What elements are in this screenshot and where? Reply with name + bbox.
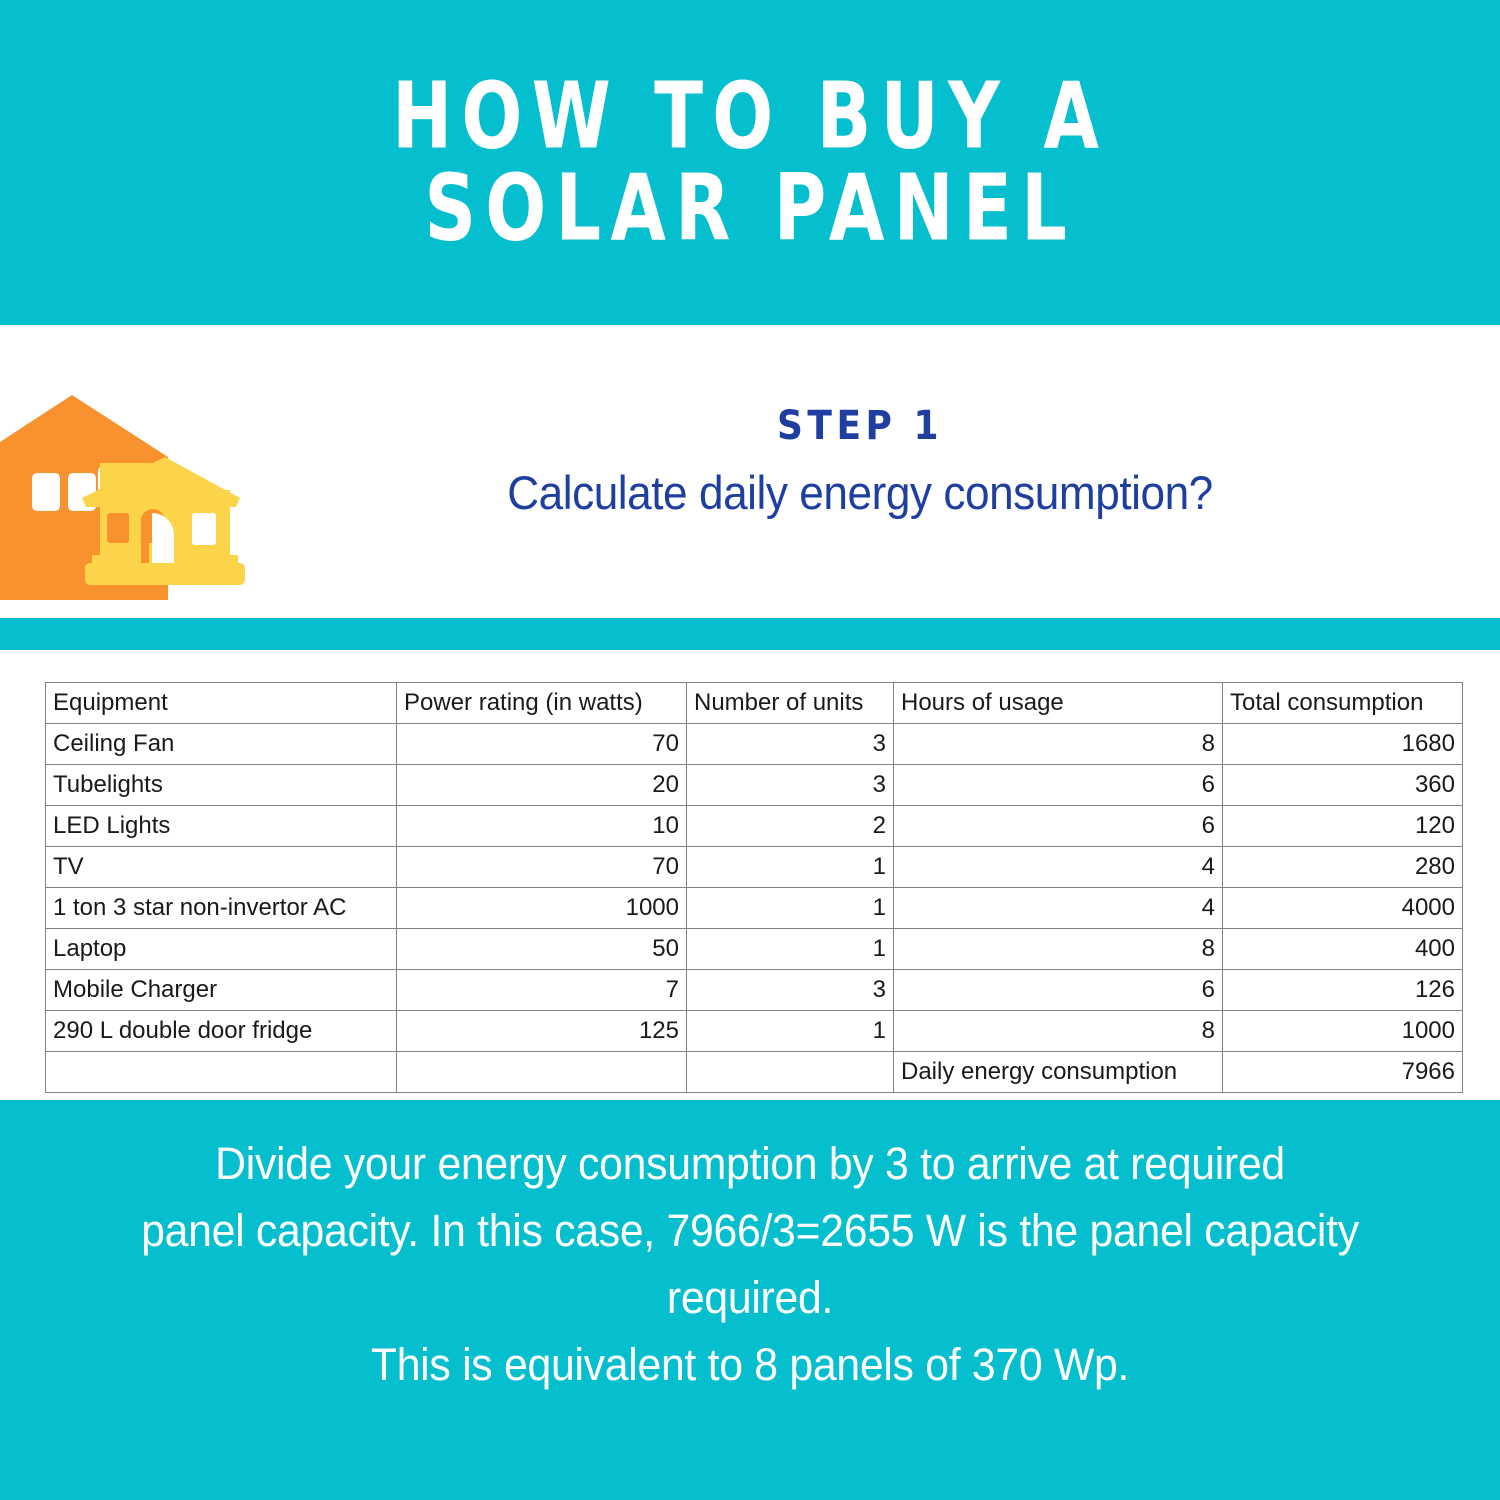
energy-consumption-table: Equipment Power rating (in watts) Number…: [45, 682, 1463, 1093]
cell-power: 50: [397, 929, 687, 970]
cell-units: 1: [687, 888, 894, 929]
column-header-equipment: Equipment: [46, 683, 397, 724]
cell-units: 3: [687, 765, 894, 806]
cell-total: 360: [1223, 765, 1463, 806]
cell-power: 7: [397, 970, 687, 1011]
footer-text-block: Divide your energy consumption by 3 to a…: [137, 1130, 1363, 1398]
cell-hours: 4: [894, 888, 1223, 929]
table-row: TV 70 1 4 280: [46, 847, 1463, 888]
cell-equipment: Laptop: [46, 929, 397, 970]
cell-units: 3: [687, 970, 894, 1011]
cell-equipment: LED Lights: [46, 806, 397, 847]
cell-empty-power: [397, 1052, 687, 1093]
cell-equipment: TV: [46, 847, 397, 888]
table-row: Laptop 50 1 8 400: [46, 929, 1463, 970]
cell-total: 4000: [1223, 888, 1463, 929]
column-header-total-consumption: Total consumption: [1223, 683, 1463, 724]
cell-total: 280: [1223, 847, 1463, 888]
step-text-block: STEP 1 Calculate daily energy consumptio…: [400, 403, 1320, 520]
cell-total: 120: [1223, 806, 1463, 847]
table-row: 1 ton 3 star non-invertor AC 1000 1 4 40…: [46, 888, 1463, 929]
cell-power: 10: [397, 806, 687, 847]
page-title-line-2: SOLAR PANEL: [424, 154, 1076, 263]
cell-equipment: 1 ton 3 star non-invertor AC: [46, 888, 397, 929]
cell-total: 400: [1223, 929, 1463, 970]
column-header-number-of-units: Number of units: [687, 683, 894, 724]
cell-empty-units: [687, 1052, 894, 1093]
cell-power: 70: [397, 847, 687, 888]
cell-equipment: Ceiling Fan: [46, 724, 397, 765]
footer-line-1: Divide your energy consumption by 3 to a…: [137, 1130, 1363, 1197]
cell-empty-equipment: [46, 1052, 397, 1093]
table-row: LED Lights 10 2 6 120: [46, 806, 1463, 847]
step-label: STEP 1: [446, 403, 1274, 449]
footer-line-4: This is equivalent to 8 panels of 370 Wp…: [137, 1331, 1363, 1398]
cell-total: 1000: [1223, 1011, 1463, 1052]
table-header-row: Equipment Power rating (in watts) Number…: [46, 683, 1463, 724]
cell-hours: 6: [894, 970, 1223, 1011]
cell-power: 1000: [397, 888, 687, 929]
cell-units: 2: [687, 806, 894, 847]
cell-total: 126: [1223, 970, 1463, 1011]
cell-power: 20: [397, 765, 687, 806]
table-section: Equipment Power rating (in watts) Number…: [0, 650, 1500, 1100]
column-header-power-rating: Power rating (in watts): [397, 683, 687, 724]
cell-power: 125: [397, 1011, 687, 1052]
cell-hours: 6: [894, 765, 1223, 806]
step-section: STEP 1 Calculate daily energy consumptio…: [0, 325, 1500, 618]
cell-equipment: Mobile Charger: [46, 970, 397, 1011]
cell-equipment: Tubelights: [46, 765, 397, 806]
step-question: Calculate daily energy consumption?: [428, 465, 1293, 520]
daily-consumption-value: 7966: [1223, 1052, 1463, 1093]
table-row: 290 L double door fridge 125 1 8 1000: [46, 1011, 1463, 1052]
cell-hours: 4: [894, 847, 1223, 888]
table-row: Mobile Charger 7 3 6 126: [46, 970, 1463, 1011]
cell-total: 1680: [1223, 724, 1463, 765]
cell-hours: 8: [894, 1011, 1223, 1052]
table-row: Tubelights 20 3 6 360: [46, 765, 1463, 806]
cell-power: 70: [397, 724, 687, 765]
table-row: Ceiling Fan 70 3 8 1680: [46, 724, 1463, 765]
cell-equipment: 290 L double door fridge: [46, 1011, 397, 1052]
column-header-hours-of-usage: Hours of usage: [894, 683, 1223, 724]
footer-line-2: panel capacity. In this case, 7966/3=265…: [137, 1197, 1363, 1264]
daily-consumption-label: Daily energy consumption: [894, 1052, 1223, 1093]
table-summary-row: Daily energy consumption 7966: [46, 1052, 1463, 1093]
header-banner: HOW TO BUY A SOLAR PANEL: [0, 0, 1500, 325]
cell-units: 1: [687, 847, 894, 888]
teal-divider-strip: [0, 618, 1500, 650]
cell-hours: 8: [894, 724, 1223, 765]
two-houses-icon: [0, 395, 278, 600]
cell-hours: 6: [894, 806, 1223, 847]
footer-line-3: required.: [137, 1264, 1363, 1331]
cell-units: 1: [687, 1011, 894, 1052]
cell-units: 3: [687, 724, 894, 765]
cell-hours: 8: [894, 929, 1223, 970]
cell-units: 1: [687, 929, 894, 970]
footer-banner: Divide your energy consumption by 3 to a…: [0, 1100, 1500, 1500]
